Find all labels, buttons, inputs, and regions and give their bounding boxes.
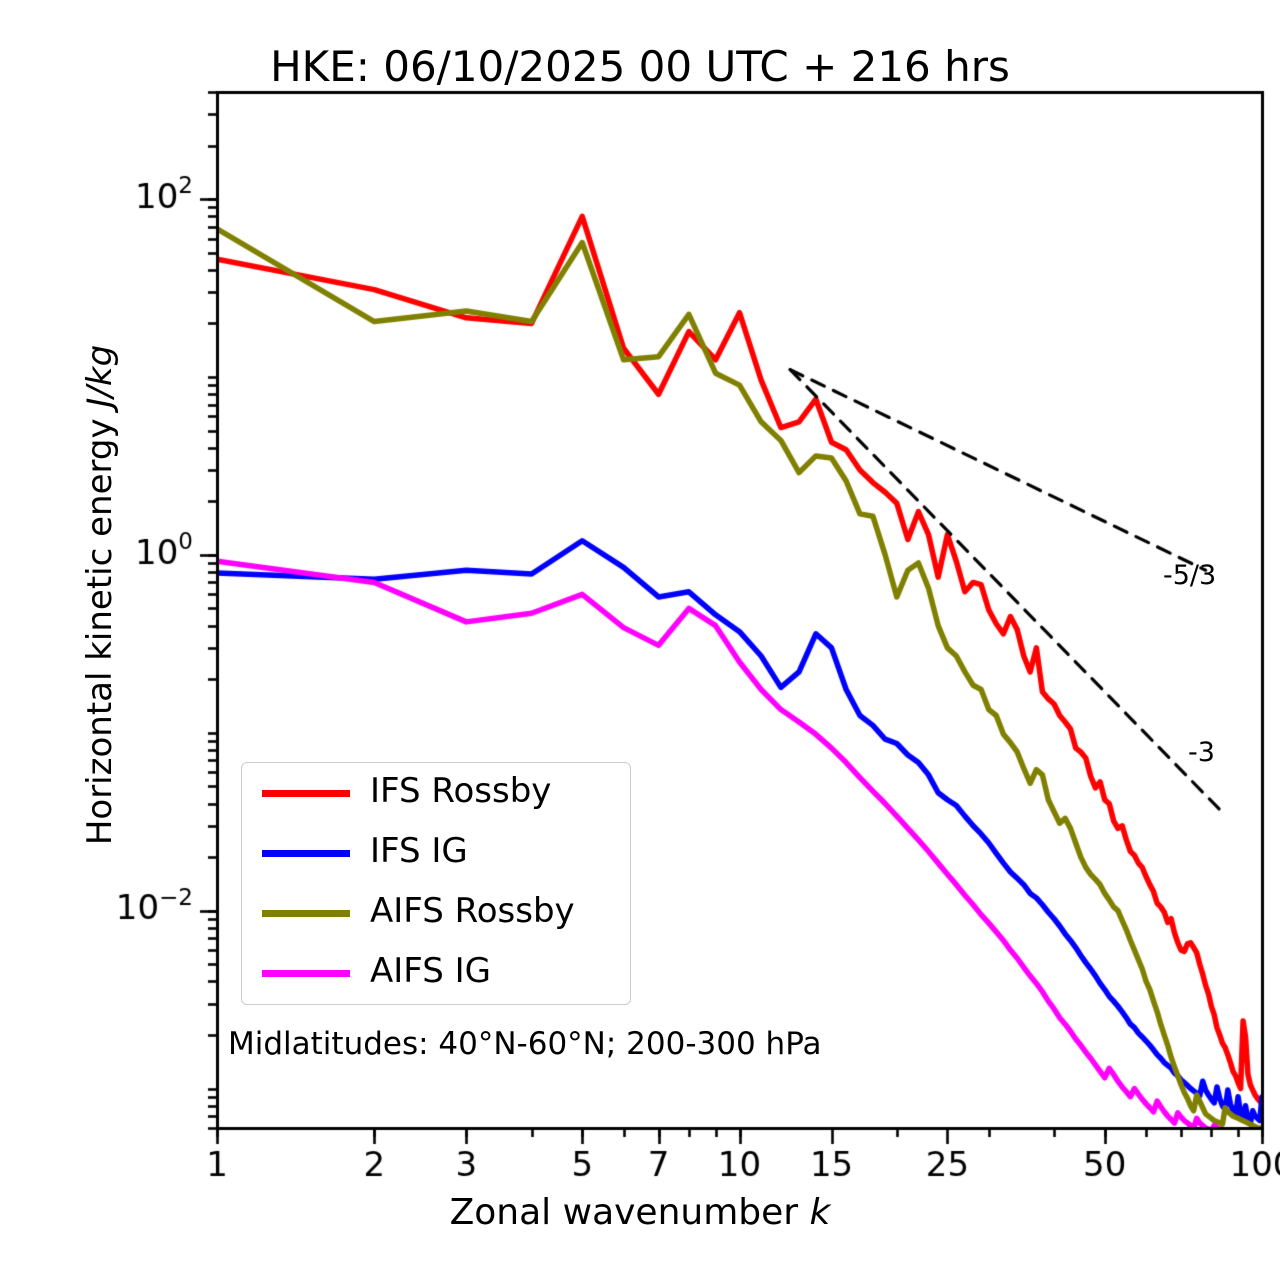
region-annotation: Midlatitudes: 40°N-60°N; 200-300 hPa	[228, 1026, 822, 1062]
y-axis-label: Horizontal kinetic energy J/kg	[80, 195, 120, 995]
legend-label-ifs-ig: IFS IG	[370, 831, 468, 871]
x-axis-label: Zonal wavenumber k	[0, 1192, 1280, 1233]
legend-label-aifs-ig: AIFS IG	[370, 951, 491, 991]
slope-label-five-thirds: -5/3	[1163, 560, 1216, 591]
legend-swatch-aifs-rossby	[262, 910, 350, 917]
legend-item-aifs-rossby[interactable]: AIFS Rossby	[242, 883, 630, 943]
x-axis-label-italic: k	[810, 1192, 831, 1233]
legend-item-ifs-ig[interactable]: IFS IG	[242, 823, 630, 883]
legend-label-aifs-rossby: AIFS Rossby	[370, 891, 575, 931]
plot-canvas	[0, 0, 1280, 1288]
legend-swatch-ifs-rossby	[262, 790, 350, 797]
y-axis-label-plain: Horizontal kinetic energy	[80, 408, 120, 846]
legend-item-ifs-rossby[interactable]: IFS Rossby	[242, 763, 630, 823]
legend-label-ifs-rossby: IFS Rossby	[370, 771, 551, 811]
legend: IFS Rossby IFS IG AIFS Rossby AIFS IG	[241, 762, 631, 1005]
legend-item-aifs-ig[interactable]: AIFS IG	[242, 943, 630, 1003]
legend-swatch-ifs-ig	[262, 850, 350, 857]
x-axis-label-plain: Zonal wavenumber	[450, 1192, 810, 1233]
chart-title: HKE: 06/10/2025 00 UTC + 216 hrs	[0, 42, 1280, 91]
y-axis-label-italic: J/kg	[80, 345, 120, 408]
slope-label-minus-three: -3	[1188, 737, 1215, 768]
figure-container: HKE: 06/10/2025 00 UTC + 216 hrs Horizon…	[0, 0, 1280, 1288]
legend-swatch-aifs-ig	[262, 970, 350, 977]
